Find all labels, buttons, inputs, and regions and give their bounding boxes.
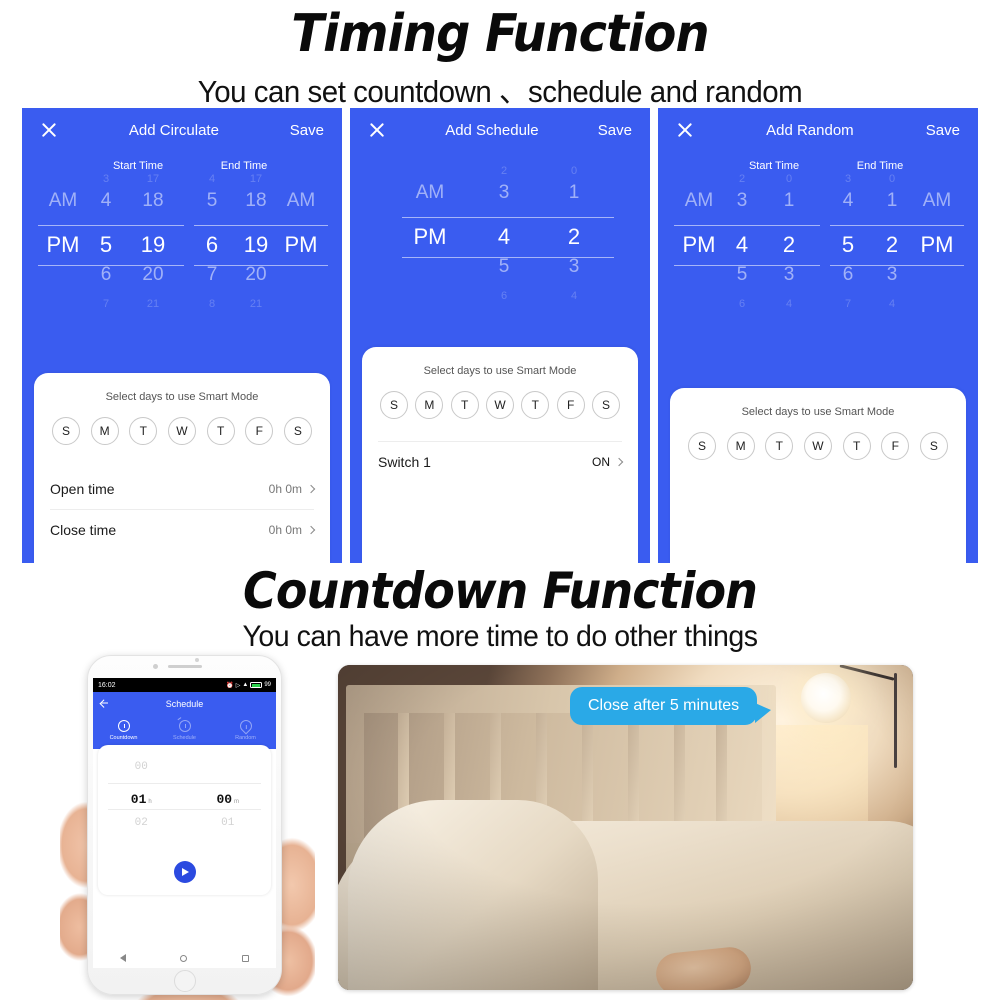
end-hour-ghost-top: 3 [845,174,851,191]
day-sat[interactable]: S [920,432,948,460]
clock-icon [118,720,130,732]
start-select-line-top [38,225,184,226]
end-min-below: 3 [887,265,898,299]
min-above: 1 [569,183,580,217]
start-hour-below: 6 [101,265,112,299]
start-time-label: Start Time [720,160,828,172]
chevron-right-icon [307,525,315,533]
weekday-selector[interactable]: S M T W T F S [378,391,622,423]
end-minute-wheel[interactable]: 17 18 19 20 21 [234,174,278,317]
start-minute-wheel[interactable]: 17 18 19 20 21 [126,174,180,317]
tab-schedule[interactable]: Schedule [154,720,215,741]
nav-back-icon[interactable] [120,954,126,962]
panel-1-topbar: Add Circulate Save [22,108,342,152]
end-meridiem-above: AM [287,191,316,225]
end-hour-ghost-bottom: 8 [209,299,215,317]
row-close-time-label: Close time [50,522,116,538]
phone-in-hand: 16:02 ⏰ ▷ ▲ 99 Schedule [60,655,315,1000]
start-min-below: 20 [142,265,163,299]
day-sun[interactable]: S [380,391,408,419]
countdown-showcase: 16:02 ⏰ ▷ ▲ 99 Schedule [0,655,1000,1000]
end-min-above: 18 [245,191,266,225]
start-hour-ghost-bottom: 6 [739,299,745,317]
app-screenshots-row: Add Circulate Save Start Time End Time A… [0,108,1000,563]
day-sat[interactable]: S [284,417,312,445]
battery-icon [250,682,262,688]
end-min-selected: 19 [244,225,268,265]
screen-add-random: Add Random Save Start Time End Time AM P… [658,108,978,563]
bedroom-photo: Close after 5 minutes [338,665,913,990]
close-icon[interactable] [40,121,58,139]
tab-random-label: Random [235,735,256,741]
panel-2-time-picker[interactable]: AM PM 2 3 4 5 6 0 1 [350,152,650,309]
day-tue[interactable]: T [451,391,479,419]
end-meridiem-wheel[interactable]: AM PM [278,174,324,317]
select-line-bottom [402,257,614,258]
wifi-icon: ▷ [236,682,241,689]
start-select-line-top [674,225,820,226]
status-time: 16:02 [98,682,116,689]
picker-minute-value: 00 [216,792,232,807]
weekday-selector[interactable]: S M T W T F S [686,432,950,464]
end-min-above: 1 [887,191,898,225]
picker-ghost-hour-bottom: 02 [98,817,185,829]
day-fri[interactable]: F [557,391,585,419]
end-hour-below: 7 [207,265,218,299]
meridiem-selected: PM [414,217,447,257]
screen-add-schedule: Add Schedule Save AM PM 2 3 4 [350,108,650,563]
end-hour-selected: 6 [206,225,218,265]
row-close-time-value: 0h 0m [269,523,302,537]
day-thu[interactable]: T [207,417,235,445]
panel-3-time-picker[interactable]: Start Time End Time AM PM 2 3 4 [658,152,978,317]
select-line-top [402,217,614,218]
start-hour-selected: 4 [736,225,748,265]
start-meridiem-above: AM [685,191,714,225]
end-hour-selected: 5 [842,225,854,265]
start-min-below: 3 [784,265,795,299]
day-wed[interactable]: W [804,432,832,460]
panel-2-smart-mode-sheet: Select days to use Smart Mode S M T W T … [362,347,638,563]
end-hour-below: 6 [843,265,854,299]
end-minute-wheel[interactable]: 0 1 2 3 4 [870,174,914,317]
day-sun[interactable]: S [688,432,716,460]
day-thu[interactable]: T [843,432,871,460]
phone-screen: 16:02 ⏰ ▷ ▲ 99 Schedule [93,678,276,968]
panel-title: Add Circulate [129,122,219,139]
day-thu[interactable]: T [521,391,549,419]
app-title: Schedule [166,699,204,709]
hour-selected: 4 [498,217,510,257]
home-button[interactable] [174,970,196,992]
start-min-ghost-top: 0 [786,174,792,191]
end-time-label: End Time [192,160,296,172]
end-meridiem-selected: PM [285,225,318,265]
row-open-time[interactable]: Open time 0h 0m [50,469,314,509]
panel-3-topbar: Add Random Save [658,108,978,152]
start-min-selected: 2 [783,225,795,265]
battery-percent: 99 [264,682,271,688]
picker-line-top [108,783,261,784]
back-arrow-icon[interactable] [101,700,110,709]
start-hour-below: 5 [737,265,748,299]
panel-2-topbar: Add Schedule Save [350,108,650,152]
start-select-line-bottom [674,265,820,266]
picker-ghost-hour-top: 00 [98,761,185,773]
day-mon[interactable]: M [91,417,119,445]
tab-schedule-label: Schedule [173,735,196,741]
end-min-ghost-bottom: 21 [250,299,262,317]
start-countdown-button[interactable] [174,861,196,883]
picker-ghost-min-bottom: 01 [185,817,272,829]
end-hour-wheel[interactable]: 4 5 6 7 8 [190,174,234,317]
end-select-line-bottom [194,265,328,266]
day-mon[interactable]: M [727,432,755,460]
poster-page: Timing Function You can set countdown 、s… [0,0,1000,1000]
end-time-label: End Time [828,160,932,172]
day-fri[interactable]: F [881,432,909,460]
start-min-ghost-bottom: 21 [147,299,159,317]
day-sat[interactable]: S [592,391,620,419]
minute-wheel[interactable]: 0 1 2 3 4 [539,166,609,309]
picker-minute-cell: 00m [185,790,272,808]
start-meridiem-selected: PM [683,225,716,265]
signal-icon: ▲ [242,682,248,688]
end-select-line-top [830,225,964,226]
row-open-time-label: Open time [50,481,115,497]
countdown-function-subtitle: You can have more time to do other thing… [25,620,975,654]
start-min-above: 1 [784,191,795,225]
close-icon[interactable] [368,121,386,139]
end-min-ghost-top: 17 [250,174,262,191]
end-select-line-bottom [830,265,964,266]
end-min-ghost-bottom: 4 [889,299,895,317]
end-hour-wheel[interactable]: 3 4 5 6 7 [826,174,870,317]
picker-hour-value: 01 [131,792,147,807]
sheet-title: Select days to use Smart Mode [50,385,314,417]
end-hour-above: 5 [207,191,218,225]
status-indicators: ⏰ ▷ ▲ 99 [226,682,271,689]
row-switch-1-label: Switch 1 [378,454,431,470]
start-hour-wheel[interactable]: 2 3 4 5 6 [722,174,762,317]
start-select-line-bottom [38,265,184,266]
chevron-right-icon [307,485,315,493]
meridiem-wheel[interactable]: AM PM [391,166,469,309]
phone-earpiece-area [88,656,281,678]
start-meridiem-wheel[interactable]: AM PM [40,174,86,317]
hour-above: 3 [499,183,510,217]
start-hour-ghost-top: 3 [103,174,109,191]
min-ghost-bottom: 4 [571,291,577,309]
panel-1-smart-mode-sheet: Select days to use Smart Mode S M T W T … [34,373,330,563]
picker-ghost-min-top [185,761,272,773]
panel-1-time-picker[interactable]: Start Time End Time AM PM 3 4 [22,152,342,317]
panel-3-smart-mode-sheet: Select days to use Smart Mode S M T W T … [670,388,966,563]
close-icon[interactable] [676,121,694,139]
tab-countdown[interactable]: Countdown [93,720,154,741]
day-fri[interactable]: F [245,417,273,445]
speech-bubble: Close after 5 minutes [570,687,757,725]
day-tue[interactable]: T [129,417,157,445]
start-meridiem-above: AM [49,191,78,225]
start-min-above: 18 [142,191,163,225]
end-min-ghost-top: 0 [889,174,895,191]
day-wed[interactable]: W [168,417,196,445]
countdown-card: 00 01h 00m [98,745,271,895]
sheet-title: Select days to use Smart Mode [378,359,622,391]
end-select-line-top [194,225,328,226]
min-ghost-top: 0 [571,166,577,183]
app-header: Schedule [93,692,276,716]
end-min-selected: 2 [886,225,898,265]
status-bar: 16:02 ⏰ ▷ ▲ 99 [93,678,276,692]
sheet-title: Select days to use Smart Mode [686,400,950,432]
min-below: 3 [569,257,580,291]
screen-add-circulate: Add Circulate Save Start Time End Time A… [22,108,342,563]
start-hour-ghost-top: 2 [739,174,745,191]
start-min-ghost-bottom: 4 [786,299,792,317]
picker-hour-unit: h [148,799,151,805]
android-nav-bar [93,948,276,968]
speaker-grille [168,665,202,668]
picker-line-bottom [108,809,261,810]
timing-function-title: Timing Function [40,8,960,60]
timing-function-subtitle: You can set countdown 、schedule and rand… [25,66,975,111]
meridiem-above: AM [416,183,445,217]
tab-random[interactable]: Random [215,720,276,741]
nav-recents-icon[interactable] [242,955,249,962]
hour-ghost-top: 2 [501,166,507,183]
end-hour-ghost-bottom: 7 [845,299,851,317]
countdown-function-title: Countdown Function [40,566,960,616]
alarm-icon [179,720,191,732]
weekday-selector[interactable]: S M T W T F S [50,417,314,449]
start-min-ghost-top: 17 [147,174,159,191]
end-meridiem-wheel[interactable]: AM PM [914,174,960,317]
start-time-label: Start Time [84,160,192,172]
alarm-icon: ⏰ [226,682,233,689]
panel-title: Add Random [766,122,854,139]
end-meridiem-above: AM [923,191,952,225]
save-button[interactable]: Save [290,122,324,139]
start-minute-wheel[interactable]: 0 1 2 3 4 [762,174,816,317]
day-sun[interactable]: S [52,417,80,445]
droplet-icon [237,718,254,735]
proximity-sensor-icon [195,658,199,662]
phone-device: 16:02 ⏰ ▷ ▲ 99 Schedule [87,655,282,995]
row-switch-1-value: ON [592,455,610,469]
start-hour-above: 3 [737,191,748,225]
save-button[interactable]: Save [598,122,632,139]
day-mon[interactable]: M [415,391,443,419]
row-close-time[interactable]: Close time 0h 0m [50,509,314,549]
end-hour-ghost-top: 4 [209,174,215,191]
front-camera-icon [153,664,158,669]
chevron-right-icon [615,457,623,465]
nav-home-icon[interactable] [180,955,187,962]
min-selected: 2 [568,217,580,257]
start-hour-ghost-bottom: 7 [103,299,109,317]
end-meridiem-selected: PM [921,225,954,265]
row-switch-1[interactable]: Switch 1 ON [378,441,622,481]
end-min-below: 20 [245,265,266,299]
end-hour-above: 4 [843,191,854,225]
day-wed[interactable]: W [486,391,514,419]
day-tue[interactable]: T [765,432,793,460]
save-button[interactable]: Save [926,122,960,139]
start-meridiem-selected: PM [47,225,80,265]
countdown-picker[interactable]: 00 01h 00m [98,761,271,839]
start-hour-above: 4 [101,191,112,225]
start-min-selected: 19 [141,225,165,265]
start-hour-wheel[interactable]: 3 4 5 6 7 [86,174,126,317]
row-open-time-value: 0h 0m [269,482,302,496]
panel-title: Add Schedule [445,122,538,139]
tab-countdown-label: Countdown [110,735,138,741]
hour-ghost-bottom: 6 [501,291,507,309]
picker-hour-cell: 01h [98,790,185,808]
start-meridiem-wheel[interactable]: AM PM [676,174,722,317]
hour-wheel[interactable]: 2 3 4 5 6 [469,166,539,309]
start-hour-selected: 5 [100,225,112,265]
hour-below: 5 [499,257,510,291]
picker-minute-unit: m [234,799,239,805]
